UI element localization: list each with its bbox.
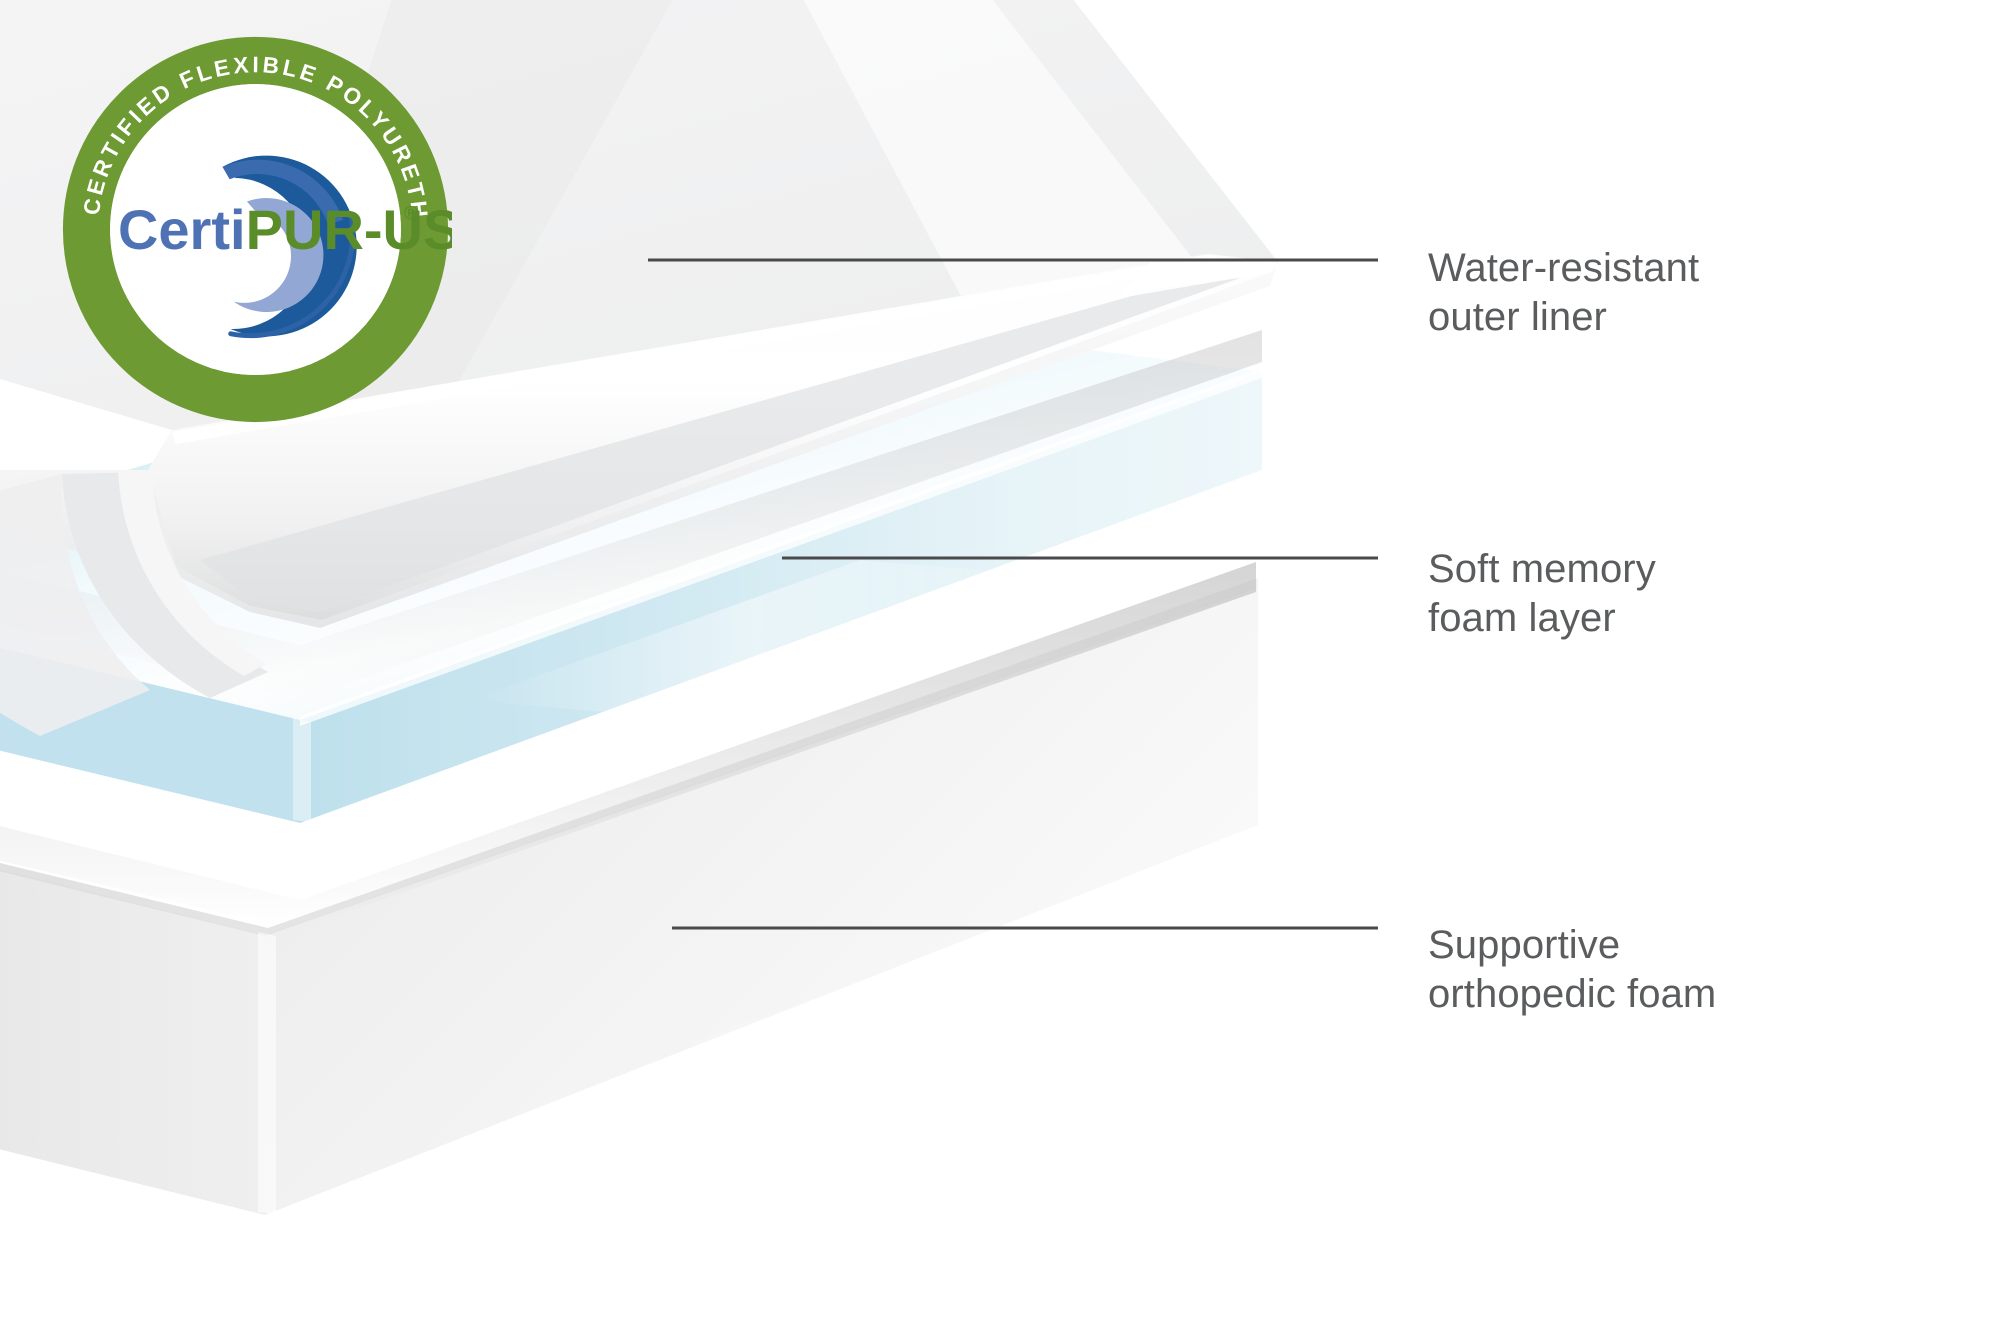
badge-registered-mark: ®	[404, 203, 419, 225]
certipur-us-badge: CONTAINS CERTIFIED FLEXIBLE POLYURETHANE…	[59, 33, 452, 426]
badge-wordmark-certi: Certi	[118, 198, 246, 261]
label-outer-liner: Water-resistant outer liner	[1428, 244, 1699, 342]
mattress-layer-diagram: CONTAINS CERTIFIED FLEXIBLE POLYURETHANE…	[0, 0, 2000, 1334]
badge-wordmark-pur-us: PUR-US	[246, 198, 452, 261]
badge-wordmark: Certi PUR-US ®	[118, 198, 452, 261]
label-memory-foam: Soft memory foam layer	[1428, 545, 1656, 643]
label-orthopedic-foam: Supportive orthopedic foam	[1428, 921, 1716, 1019]
